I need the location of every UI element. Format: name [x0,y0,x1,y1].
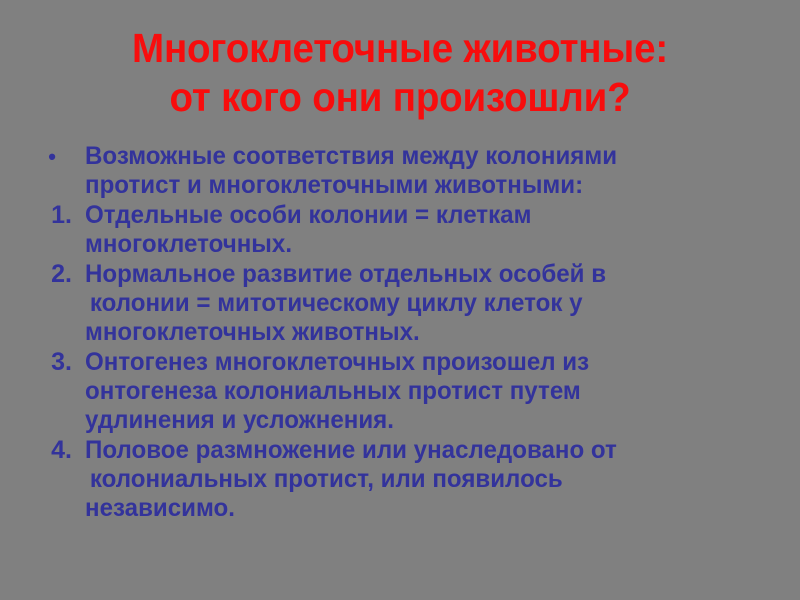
list-item-line: Возможные соответствия между колониями [85,142,775,171]
list-item-text: Отдельные особи колонии = клеткам многок… [85,201,800,259]
list-item-line: колониальных протист, или появилось [85,465,775,494]
list-item-text: Онтогенез многоклеточных произошел из он… [85,348,800,435]
list-item-line: онтогенеза колониальных протист путем [85,377,775,406]
list-item-line: Нормальное развитие отдельных особей в [85,260,775,289]
list-item-number: 1. [0,201,72,230]
list-item-number: 3. [0,348,72,377]
list-item-line: Половое размножение или унаследовано от [85,436,775,465]
list-item-number: 2. [0,260,72,289]
list-item-text: Половое размножение или унаследовано от … [85,436,800,523]
list-item-number: 4. [0,436,72,465]
list-item-line: колонии = митотическому циклу клеток у [85,289,775,318]
list-item-line: многоклеточных животных. [85,318,775,347]
list-item: • Возможные соответствия между колониями… [0,142,800,200]
bullet-marker-icon: • [0,142,56,172]
slide-body-list: • Возможные соответствия между колониями… [0,142,800,523]
list-item-line: независимо. [85,494,775,523]
slide-title-line-1: Многоклеточные животные: [24,24,776,73]
list-item: 2. Нормальное развитие отдельных особей … [0,260,800,347]
list-item: 4. Половое размножение или унаследовано … [0,436,800,523]
list-item-line: протист и многоклеточными животными: [85,171,775,200]
slide-title: Многоклеточные животные: от кого они про… [24,24,776,122]
list-item-text: Нормальное развитие отдельных особей в к… [85,260,800,347]
slide-canvas: Многоклеточные животные: от кого они про… [0,0,800,600]
list-item: 1. Отдельные особи колонии = клеткам мно… [0,201,800,259]
list-item-text: Возможные соответствия между колониями п… [85,142,800,200]
slide-title-line-2: от кого они произошли? [24,73,776,122]
list-item-line: удлинения и усложнения. [85,406,775,435]
list-item: 3. Онтогенез многоклеточных произошел из… [0,348,800,435]
list-item-line: многоклеточных. [85,230,775,259]
list-item-line: Отдельные особи колонии = клеткам [85,201,775,230]
list-item-line: Онтогенез многоклеточных произошел из [85,348,775,377]
